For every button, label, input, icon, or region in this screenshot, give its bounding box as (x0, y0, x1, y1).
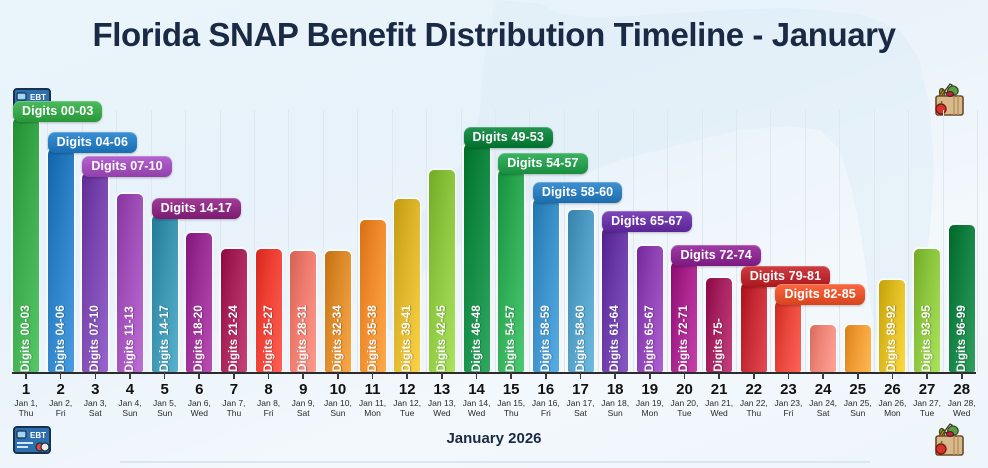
date-line-2: Sun (324, 408, 352, 418)
bar-slot: Digits 46-48Digits 49-53 (463, 110, 491, 372)
date-line-1: Jan 7, (220, 398, 248, 408)
date-line-1: Jan 25, (844, 398, 872, 408)
date-line-1: Jan 24, (809, 398, 837, 408)
date-line-1: Jan 12, (393, 398, 421, 408)
bar-inner-label: Digits 46-48 (464, 301, 490, 372)
x-axis-label: 17Jan 17,Sat (567, 381, 595, 418)
bar[interactable]: Digits 14-17 (152, 215, 178, 372)
bar-inner-label: Digits 61-64 (602, 301, 628, 372)
bar[interactable]: Digits 42-45 (429, 170, 455, 372)
bar-slot: Digits 72-71Digits 72-74 (670, 110, 698, 372)
day-number: 15 (497, 381, 525, 398)
date-line-1: Jan 11, (359, 398, 387, 408)
date-line-2: Fri (532, 408, 560, 418)
x-axis-tick (116, 372, 144, 379)
x-axis-tick (844, 372, 872, 379)
date-line-2: Tue (393, 408, 421, 418)
bar-callout-badge: Digits 49-53 (464, 127, 553, 148)
bar[interactable]: Digits 96-99 (949, 225, 975, 372)
x-axis-tick (670, 372, 698, 379)
date-line-2: Mon (878, 408, 906, 418)
date-line-1: Jan 13, (428, 398, 456, 408)
x-axis-ticks (12, 372, 976, 379)
x-axis-tick (636, 372, 664, 379)
date-line-1: Jan 5, (151, 398, 179, 408)
date-line-2: Sun (844, 408, 872, 418)
footer-divider (120, 461, 870, 463)
bar-slot: Digits 61-64Digits 65-67 (601, 110, 629, 372)
day-number: 14 (463, 381, 491, 398)
bar-slot: Digits 89-92 (878, 110, 906, 372)
month-label: January 2026 (0, 430, 988, 447)
bar[interactable]: Digits 93-95 (914, 249, 940, 372)
date-line-2: Sun (116, 408, 144, 418)
x-axis-tick (12, 372, 40, 379)
x-axis-tick (913, 372, 941, 379)
bar-inner-label: Digits 21-24 (221, 301, 247, 372)
bar[interactable]: Digits 25-27 (256, 249, 282, 372)
x-axis-tick (567, 372, 595, 379)
x-axis-label: 19Jan 19,Mon (636, 381, 664, 418)
date-line-1: Jan 28, (948, 398, 976, 408)
x-axis-tick (81, 372, 109, 379)
x-axis-label: 18Jan 18,Sun (601, 381, 629, 418)
bar-inner-label: Digits 14-17 (152, 301, 178, 372)
bar-inner-label: Digits 07-10 (82, 301, 108, 372)
date-line-2: Thu (497, 408, 525, 418)
day-number: 5 (151, 381, 179, 398)
bar-slot: Digits 25-27 (255, 110, 283, 372)
x-axis-tick (151, 372, 179, 379)
date-line-2: Wed (185, 408, 213, 418)
bar[interactable]: Digits 89-92 (879, 280, 905, 372)
x-axis-label: 4Jan 4,Sun (116, 381, 144, 418)
date-line-2: Sat (81, 408, 109, 418)
bar[interactable]: Digits 07-10 (82, 173, 108, 372)
bar-inner-label: Digits 54-57 (498, 301, 524, 372)
day-number: 25 (844, 381, 872, 398)
x-axis-label: 21Jan 21,Wed (705, 381, 733, 418)
date-line-2: Wed (948, 408, 976, 418)
day-number: 24 (809, 381, 837, 398)
day-number: 6 (185, 381, 213, 398)
x-axis-tick (774, 372, 802, 379)
bar-slot: Digits 32-34 (324, 110, 352, 372)
bar-inner-label: Digits 96-99 (949, 301, 975, 372)
x-axis-tick (289, 372, 317, 379)
date-line-2: Wed (705, 408, 733, 418)
bar-inner-label: Digits 18-20 (186, 301, 212, 372)
day-number: 23 (774, 381, 802, 398)
bar-inner-label: Digits 04-06 (48, 301, 74, 372)
date-line-1: Jan 26, (878, 398, 906, 408)
bar[interactable]: Digits 61-64 (602, 228, 628, 372)
bar-slot: Digits 75- (705, 110, 733, 372)
day-number: 3 (81, 381, 109, 398)
bar-slot: Digits 58-60 (567, 110, 595, 372)
bar[interactable] (845, 325, 871, 372)
x-axis-label: 22Jan 22,Thu (740, 381, 768, 418)
day-number: 17 (567, 381, 595, 398)
bar-callout-badge: Digits 07-10 (82, 156, 171, 177)
x-axis-label: 20Jan 20,Tue (670, 381, 698, 418)
date-line-2: Mon (636, 408, 664, 418)
x-axis-label: 16Jan 16,Fri (532, 381, 560, 418)
bar-slot: Digits 58-59Digits 58-60 (532, 110, 560, 372)
bar-callout-badge: Digits 72-74 (671, 245, 760, 266)
x-axis-label: 5Jan 5,Sun (151, 381, 179, 418)
x-axis-label: 11Jan 11,Mon (359, 381, 387, 418)
x-axis-tick (948, 372, 976, 379)
x-axis-tick (497, 372, 525, 379)
x-axis-tick (47, 372, 75, 379)
x-axis-tick (393, 372, 421, 379)
bar-inner-label: Digits 00-03 (13, 301, 39, 372)
bar-callout-badge: Digits 14-17 (152, 198, 241, 219)
x-axis-tick (740, 372, 768, 379)
date-line-2: Thu (12, 408, 40, 418)
bar-inner-label: Digits 65-67 (637, 301, 663, 372)
x-axis-label: 23Jan 23,Fri (774, 381, 802, 418)
x-axis-tick (255, 372, 283, 379)
date-line-1: Jan 8, (255, 398, 283, 408)
date-line-1: Jan 15, (497, 398, 525, 408)
day-number: 27 (913, 381, 941, 398)
day-number: 10 (324, 381, 352, 398)
bar[interactable]: Digits 35-38 (360, 220, 386, 372)
bar[interactable]: Digits 28-31 (290, 251, 316, 372)
x-axis-label: 9Jan 9,Sat (289, 381, 317, 418)
x-axis-tick (809, 372, 837, 379)
date-line-2: Sun (151, 408, 179, 418)
bar[interactable]: Digits 75- (706, 278, 732, 372)
bar-slot: Digits 04-06Digits 04-06 (47, 110, 75, 372)
bar-callout-badge: Digits 82-85 (775, 284, 864, 305)
bar-slot: Digits 39-41 (393, 110, 421, 372)
x-axis-labels: 1Jan 1,Thu2Jan 2,Fri3Jan 3,Sat4Jan 4,Sun… (12, 381, 976, 418)
x-axis-label: 15Jan 15,Thu (497, 381, 525, 418)
bar-slot (844, 110, 872, 372)
x-axis-tick (532, 372, 560, 379)
x-axis-tick (705, 372, 733, 379)
x-axis-tick (463, 372, 491, 379)
bar-inner-label: Digits 11-13 (117, 302, 143, 372)
date-line-2: Mon (359, 408, 387, 418)
date-line-1: Jan 6, (185, 398, 213, 408)
x-axis-label: 27Jan 27,Tue (913, 381, 941, 418)
date-line-2: Sat (289, 408, 317, 418)
bar-inner-label: Digits 58-59 (533, 301, 559, 372)
x-axis-label: 13Jan 13,Wed (428, 381, 456, 418)
x-axis-label: 14Jan 14,Wed (463, 381, 491, 418)
bar-inner-label: Digits 72-71 (671, 301, 697, 372)
day-number: 19 (636, 381, 664, 398)
bar[interactable]: Digits 39-41 (394, 199, 420, 372)
bar[interactable] (775, 301, 801, 372)
x-axis-tick (185, 372, 213, 379)
bar-slot: Digits 35-38 (359, 110, 387, 372)
bar[interactable]: Digits 18-20 (186, 233, 212, 372)
bar-inner-label: Digits 28-31 (290, 301, 316, 372)
date-line-2: Sun (601, 408, 629, 418)
bar-callout-badge: Digits 54-57 (498, 153, 587, 174)
bar[interactable]: Digits 32-34 (325, 251, 351, 372)
date-line-1: Jan 21, (705, 398, 733, 408)
x-axis-label: 2Jan 2,Fri (47, 381, 75, 418)
date-line-2: Wed (428, 408, 456, 418)
day-number: 18 (601, 381, 629, 398)
bar-inner-label: Digits 42-45 (429, 301, 455, 372)
x-axis-label: 6Jan 6,Wed (185, 381, 213, 418)
bar-callout-badge: Digits 65-67 (602, 211, 691, 232)
date-line-2: Wed (463, 408, 491, 418)
bar-slot: Digits 00-03Digits 00-03 (12, 110, 40, 372)
date-line-1: Jan 14, (463, 398, 491, 408)
day-number: 28 (948, 381, 976, 398)
day-number: 1 (12, 381, 40, 398)
bar[interactable] (741, 283, 767, 372)
bar[interactable]: Digits 72-71 (671, 262, 697, 372)
bar[interactable] (810, 325, 836, 372)
day-number: 21 (705, 381, 733, 398)
bar-slot: Digits 14-17Digits 14-17 (151, 110, 179, 372)
day-number: 12 (393, 381, 421, 398)
x-axis-tick (324, 372, 352, 379)
date-line-1: Jan 18, (601, 398, 629, 408)
date-line-1: Jan 17, (567, 398, 595, 408)
date-line-1: Jan 1, (12, 398, 40, 408)
date-line-2: Tue (670, 408, 698, 418)
day-number: 22 (740, 381, 768, 398)
bar-inner-label: Digits 75- (706, 314, 732, 372)
bar[interactable]: Digits 58-60 (568, 210, 594, 372)
bar-inner-label: Digits 25-27 (256, 301, 282, 372)
day-number: 7 (220, 381, 248, 398)
bar-slot: Digits 28-31 (289, 110, 317, 372)
day-number: 13 (428, 381, 456, 398)
x-axis-label: 12Jan 12,Tue (393, 381, 421, 418)
bar-slot: Digits 79-81 (740, 110, 768, 372)
x-axis-label: 10Jan 10,Sun (324, 381, 352, 418)
bar-callout-badge: Digits 04-06 (48, 132, 137, 153)
date-line-1: Jan 4, (116, 398, 144, 408)
date-line-2: Fri (774, 408, 802, 418)
date-line-1: Jan 3, (81, 398, 109, 408)
date-line-2: Thu (220, 408, 248, 418)
bar-slot: Digits 54-57Digits 54-57 (497, 110, 525, 372)
x-axis-label: 3Jan 3,Sat (81, 381, 109, 418)
day-number: 8 (255, 381, 283, 398)
bar[interactable]: Digits 04-06 (48, 149, 74, 372)
date-line-1: Jan 22, (740, 398, 768, 408)
bar[interactable]: Digits 65-67 (637, 246, 663, 372)
bar[interactable]: Digits 00-03 (13, 118, 39, 372)
bar[interactable]: Digits 11-13 (117, 194, 143, 372)
grid-line (977, 110, 978, 372)
bar-slot: Digits 96-99 (948, 110, 976, 372)
bar[interactable]: Digits 54-57 (498, 170, 524, 372)
x-axis-label: 7Jan 7,Thu (220, 381, 248, 418)
bar-inner-label: Digits 93-95 (914, 301, 940, 372)
date-line-2: Thu (740, 408, 768, 418)
x-axis-label: 26Jan 26,Mon (878, 381, 906, 418)
date-line-2: Sat (809, 408, 837, 418)
bar[interactable]: Digits 58-59 (533, 199, 559, 372)
x-axis-tick (359, 372, 387, 379)
x-axis-tick (601, 372, 629, 379)
day-number: 16 (532, 381, 560, 398)
day-number: 11 (359, 381, 387, 398)
infographic-canvas: Florida SNAP Benefit Distribution Timeli… (0, 0, 988, 468)
bar-callout-badge: Digits 00-03 (13, 101, 102, 122)
date-line-1: Jan 27, (913, 398, 941, 408)
bar-inner-label: Digits 35-38 (360, 301, 386, 372)
date-line-2: Fri (47, 408, 75, 418)
bar-slot (809, 110, 837, 372)
bar[interactable]: Digits 46-48 (464, 144, 490, 372)
date-line-1: Jan 19, (636, 398, 664, 408)
date-line-1: Jan 23, (774, 398, 802, 408)
bar-slot: Digits 42-45 (428, 110, 456, 372)
bar-chart-plot-area: Digits 00-03Digits 00-03Digits 04-06Digi… (12, 110, 976, 372)
bar-slot: Digits 82-85 (774, 110, 802, 372)
bar[interactable]: Digits 21-24 (221, 249, 247, 372)
bar-slot: Digits 21-24 (220, 110, 248, 372)
x-axis-label: 25Jan 25,Sun (844, 381, 872, 418)
page-title: Florida SNAP Benefit Distribution Timeli… (0, 16, 988, 54)
x-axis-label: 28Jan 28,Wed (948, 381, 976, 418)
date-line-2: Sat (567, 408, 595, 418)
bar-slot: Digits 93-95 (913, 110, 941, 372)
x-axis-label: 1Jan 1,Thu (12, 381, 40, 418)
x-axis-label: 24Jan 24,Sat (809, 381, 837, 418)
bar-callout-badge: Digits 58-60 (533, 182, 622, 203)
day-number: 9 (289, 381, 317, 398)
date-line-1: Jan 16, (532, 398, 560, 408)
bar-inner-label: Digits 58-60 (568, 301, 594, 372)
date-line-1: Jan 20, (670, 398, 698, 408)
x-axis-label: 8Jan 8,Fri (255, 381, 283, 418)
bar-series: Digits 00-03Digits 00-03Digits 04-06Digi… (12, 110, 976, 372)
bar-slot: Digits 65-67 (636, 110, 664, 372)
day-number: 4 (116, 381, 144, 398)
date-line-1: Jan 9, (289, 398, 317, 408)
date-line-1: Jan 2, (47, 398, 75, 408)
day-number: 26 (878, 381, 906, 398)
date-line-2: Fri (255, 408, 283, 418)
bar-inner-label: Digits 32-34 (325, 301, 351, 372)
bar-inner-label: Digits 89-92 (879, 301, 905, 372)
date-line-1: Jan 10, (324, 398, 352, 408)
bar-inner-label: Digits 39-41 (394, 301, 420, 372)
date-line-2: Tue (913, 408, 941, 418)
x-axis-tick (220, 372, 248, 379)
day-number: 2 (47, 381, 75, 398)
x-axis-tick (428, 372, 456, 379)
bar-slot: Digits 18-20 (185, 110, 213, 372)
day-number: 20 (670, 381, 698, 398)
x-axis-tick (878, 372, 906, 379)
